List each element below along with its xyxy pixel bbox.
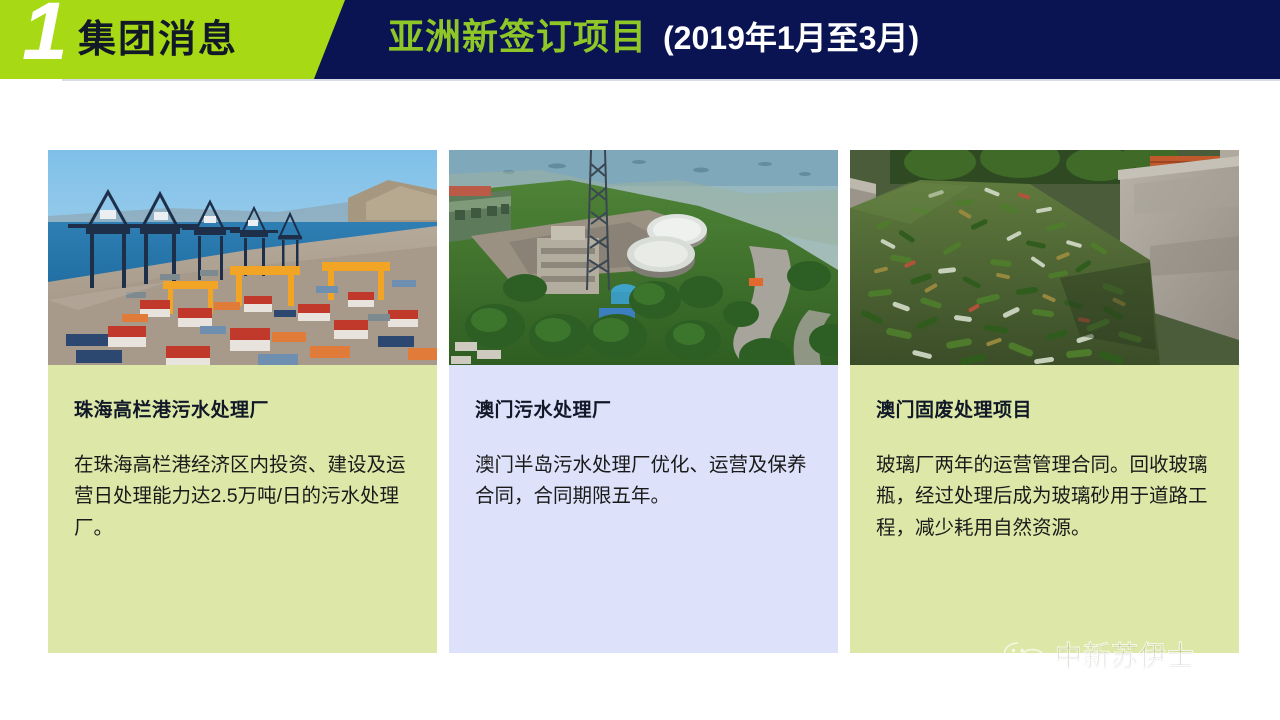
section-label: 集团消息 — [78, 21, 238, 59]
project-card-grid: 珠海高栏港污水处理厂 在珠海高栏港经济区内投资、建设及运营日处理能力达2.5万吨… — [48, 150, 1240, 653]
card-text: 澳门半岛污水处理厂优化、运营及保养合同，合同期限五年。 — [475, 450, 812, 513]
project-card: 澳门固废处理项目 玻璃厂两年的运营管理合同。回收玻璃瓶，经过处理后成为玻璃砂用于… — [850, 150, 1239, 653]
card-text: 玻璃厂两年的运营管理合同。回收玻璃瓶，经过处理后成为玻璃砂用于道路工程，减少耗用… — [876, 450, 1213, 545]
header-title-main: 亚洲新签订项目 — [388, 15, 647, 58]
card-body: 澳门固废处理项目 玻璃厂两年的运营管理合同。回收玻璃瓶，经过处理后成为玻璃砂用于… — [850, 365, 1239, 653]
project-card: 澳门污水处理厂 澳门半岛污水处理厂优化、运营及保养合同，合同期限五年。 — [449, 150, 838, 653]
wastewater-plant-aerial-photo — [449, 150, 838, 365]
project-card: 珠海高栏港污水处理厂 在珠海高栏港经济区内投资、建设及运营日处理能力达2.5万吨… — [48, 150, 437, 653]
card-title: 澳门固废处理项目 — [876, 399, 1213, 424]
card-body: 珠海高栏港污水处理厂 在珠海高栏港经济区内投资、建设及运营日处理能力达2.5万吨… — [48, 365, 437, 653]
header-underline — [62, 79, 1280, 81]
card-text: 在珠海高栏港经济区内投资、建设及运营日处理能力达2.5万吨/日的污水处理厂。 — [74, 450, 411, 545]
card-body: 澳门污水处理厂 澳门半岛污水处理厂优化、运营及保养合同，合同期限五年。 — [449, 365, 838, 653]
glass-bottle-pile-photo — [850, 150, 1239, 365]
header-title-period: (2019年1月至3月) — [663, 19, 919, 57]
container-port-photo — [48, 150, 437, 365]
card-title: 珠海高栏港污水处理厂 — [74, 399, 411, 424]
card-title: 澳门污水处理厂 — [475, 399, 812, 424]
slide-header: 1 集团消息 亚洲新签订项目 (2019年1月至3月) — [0, 0, 1280, 79]
header-title: 亚洲新签订项目 (2019年1月至3月) — [388, 15, 919, 58]
section-number: 1 — [22, 0, 66, 73]
